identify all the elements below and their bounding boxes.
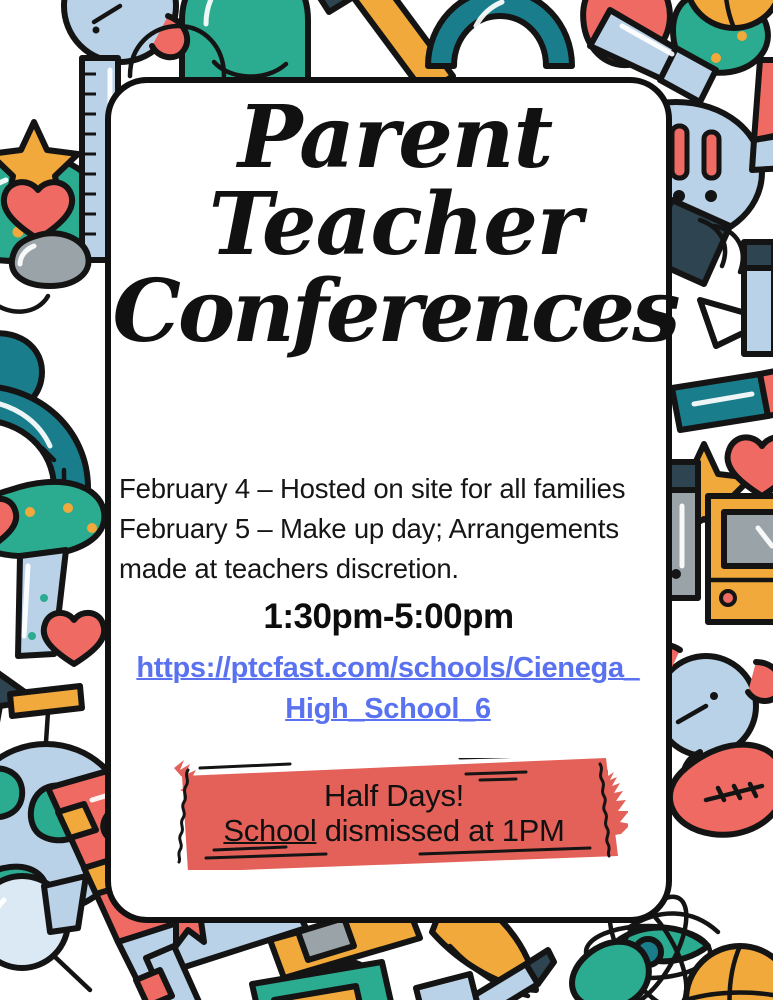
marker-doodle [744, 242, 773, 354]
banner-line-1: Half Days! [324, 779, 464, 813]
poster-body: February 4 – Hosted on site for all fami… [119, 469, 661, 589]
signup-url-link[interactable]: https://ptcfast.com/schools/Cienega_High… [128, 648, 648, 730]
banner-line-2: School dismissed at 1PM [223, 813, 564, 849]
banner-dismissed-text: dismissed at 1PM [316, 813, 564, 848]
body-line-3: made at teachers discretion. [119, 549, 661, 589]
poster-canvas: .ol{stroke:#141414;stroke-width:6;stroke… [0, 0, 773, 1000]
cup-doodle [44, 876, 86, 932]
conference-time: 1:30pm-5:00pm [105, 597, 672, 637]
banner-text-block: Half Days! School dismissed at 1PM [160, 758, 628, 870]
half-days-banner: Half Days! School dismissed at 1PM [160, 758, 628, 870]
body-line-2: February 5 – Make up day; Arrangements [119, 509, 661, 549]
body-line-1: February 4 – Hosted on site for all fami… [119, 469, 661, 509]
banner-school-underlined: School [223, 813, 316, 848]
calculator-doodle [708, 496, 773, 622]
sharpener-doodle [668, 462, 698, 598]
